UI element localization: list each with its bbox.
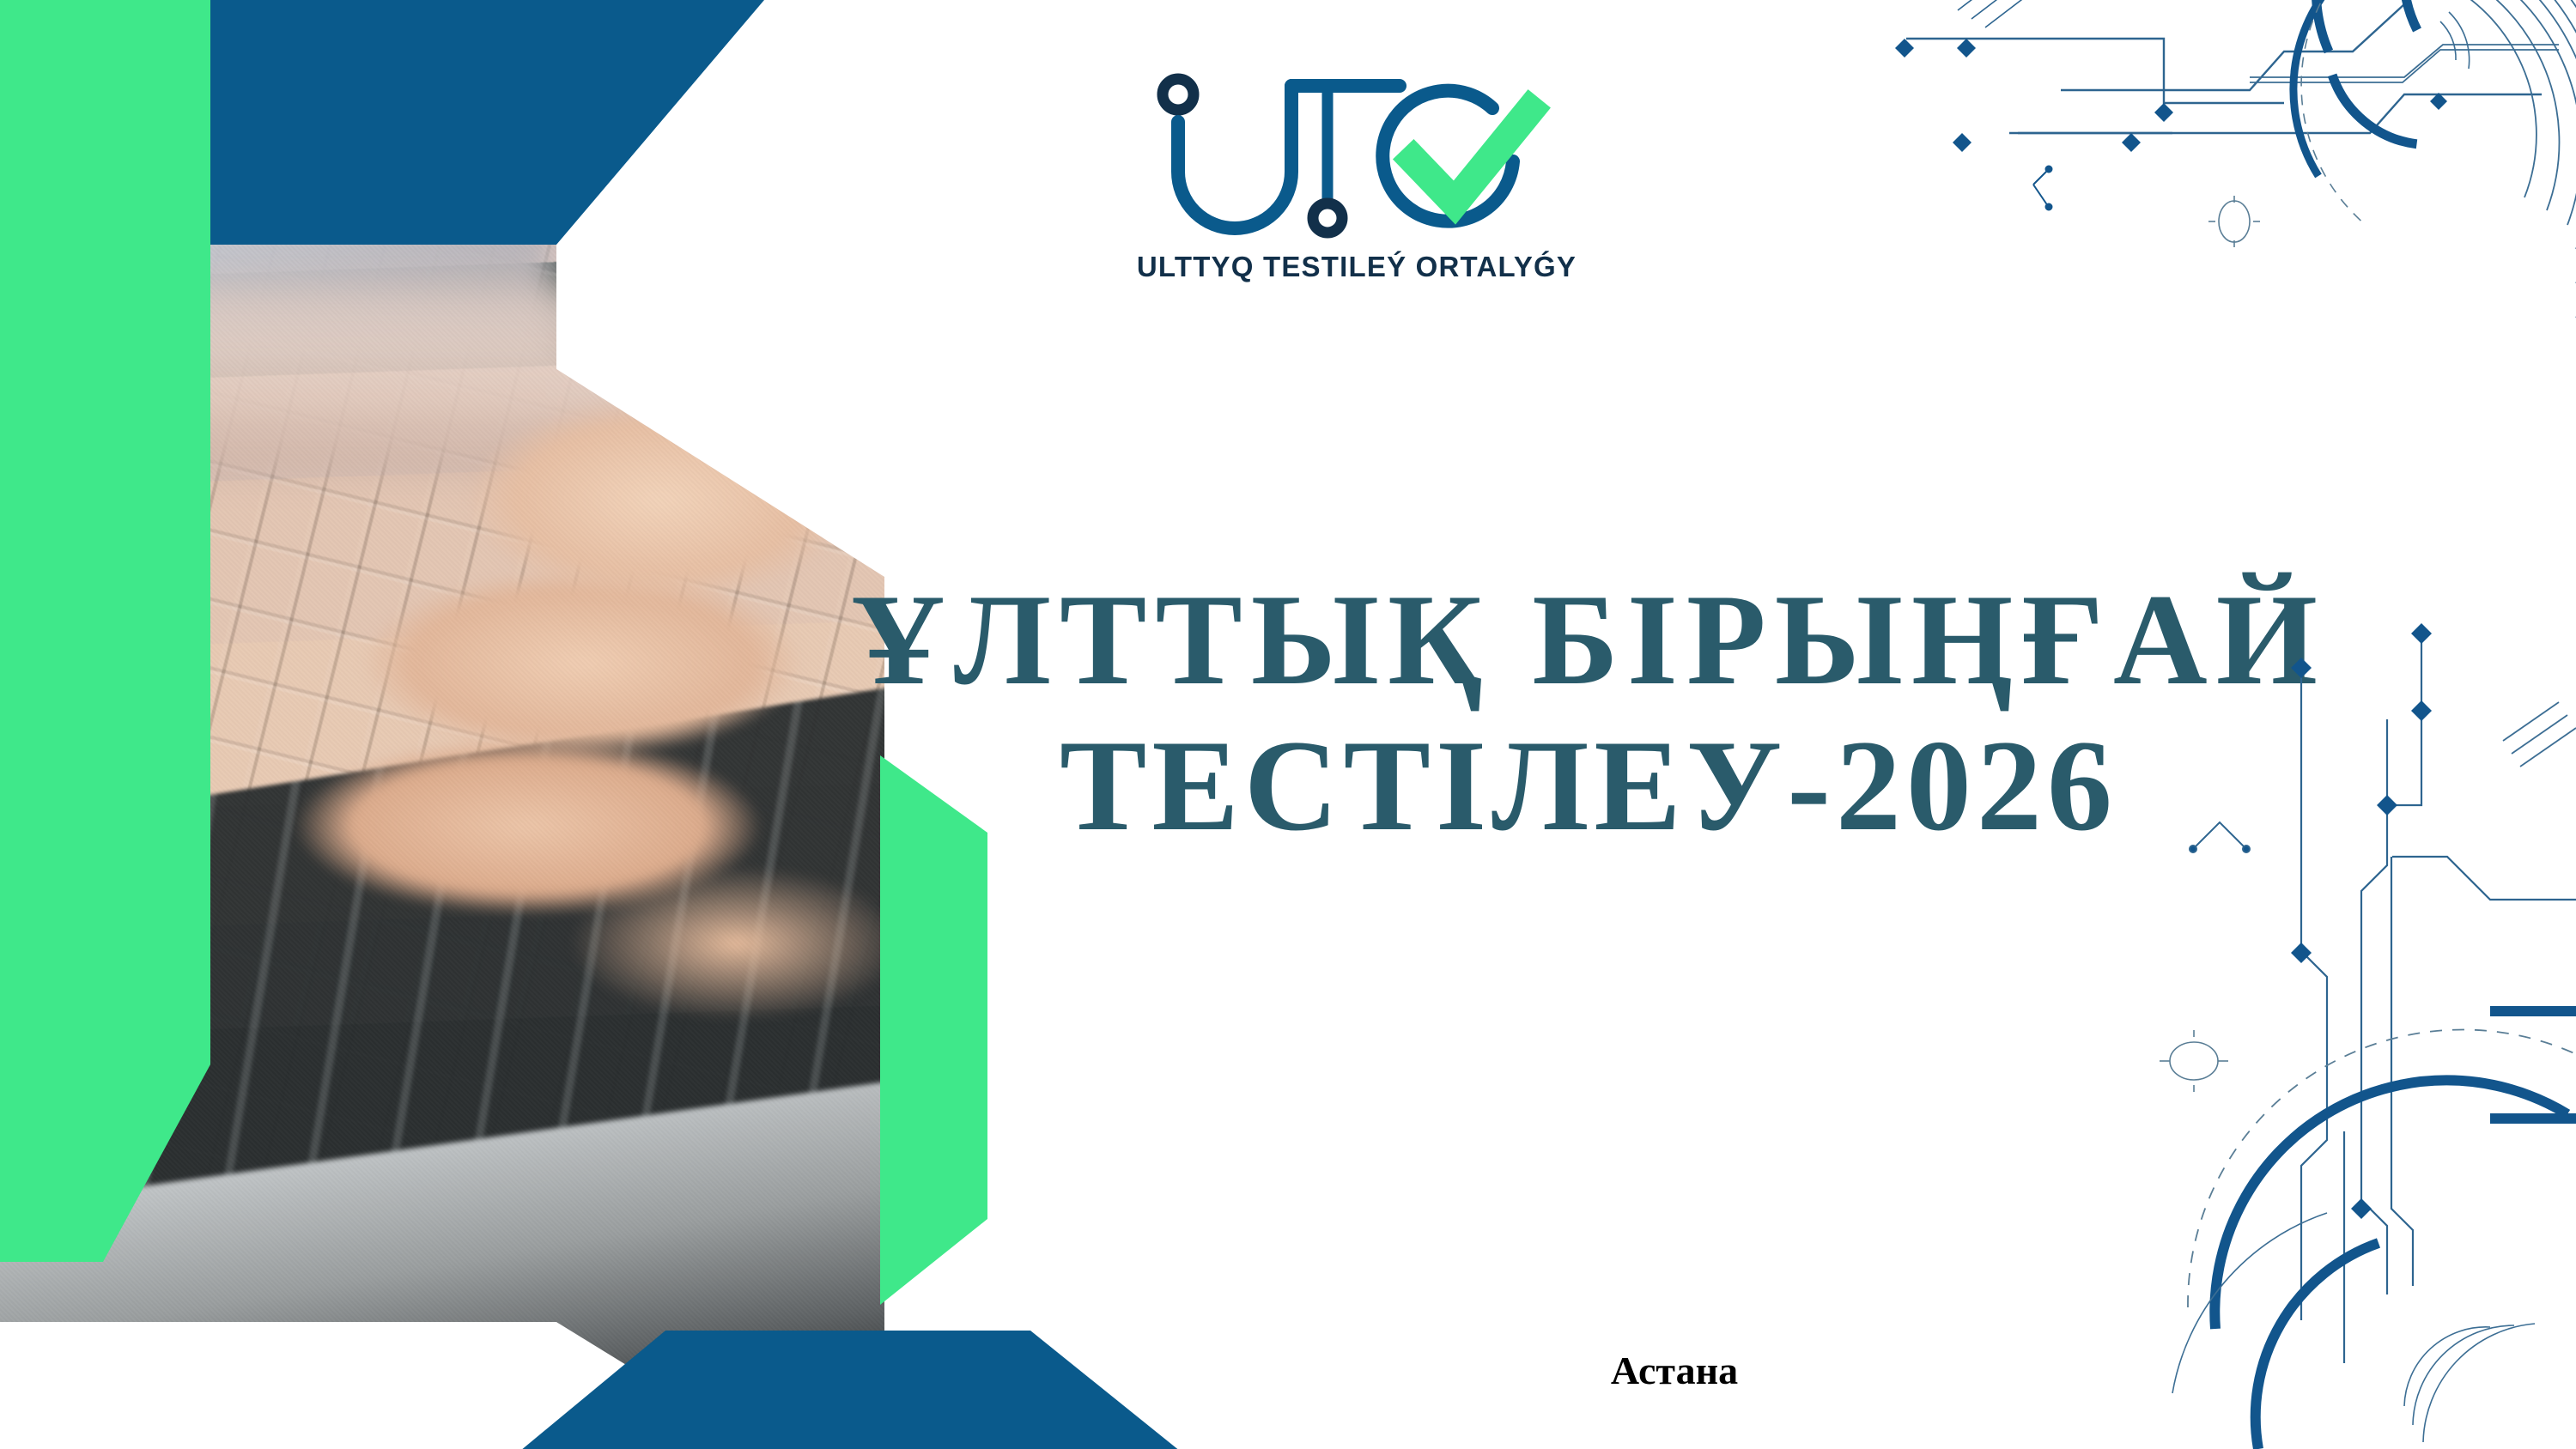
logo-caption: ULTTYQ TESTILEÝ ORTALYǴY [1137, 251, 1577, 283]
title-line-2: ТЕСТІЛЕУ-2026 [773, 712, 2404, 858]
uto-logo-mark [1142, 60, 1571, 258]
page-title: ҰЛТТЫҚ БІРЫҢҒАЙ ТЕСТІЛЕУ-2026 [773, 567, 2404, 858]
circuit-pattern-top-right [1803, 0, 2576, 361]
uto-logo: ULTTYQ TESTILEÝ ORTALYǴY [1116, 60, 1597, 309]
city-label: Астана [1374, 1348, 1975, 1393]
poster-canvas: ULTTYQ TESTILEÝ ORTALYǴY ҰЛТТЫҚ БІРЫҢҒАЙ… [0, 0, 2576, 1449]
title-line-1: ҰЛТТЫҚ БІРЫҢҒАЙ [773, 567, 2404, 712]
